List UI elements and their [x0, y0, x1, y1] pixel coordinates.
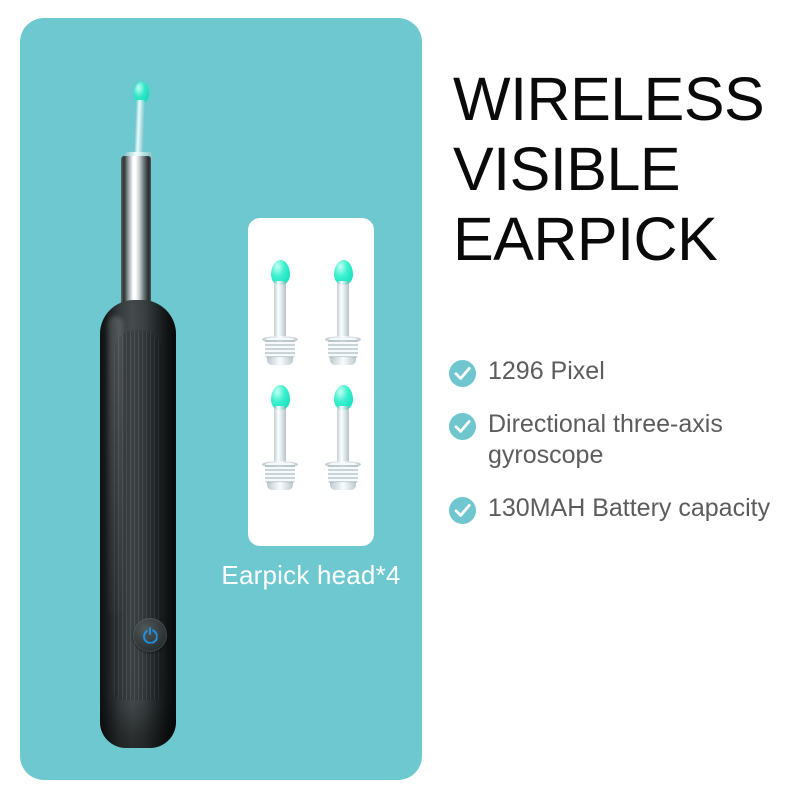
earpick-head-item — [260, 385, 300, 503]
earpick-device — [80, 68, 200, 768]
power-button[interactable] — [133, 618, 167, 652]
headline-line-2: VISIBLE — [453, 134, 783, 204]
page-title: WIRELESS VISIBLE EARPICK — [453, 64, 783, 274]
device-handle — [100, 300, 176, 748]
earpick-head-grid — [248, 260, 374, 510]
product-banner: Earpick head*4 WIRELESS VISIBLE EARPICK … — [0, 0, 800, 800]
feature-label: Directional three-axis gyroscope — [488, 409, 779, 471]
check-circle-icon — [449, 413, 476, 440]
check-circle-icon — [449, 360, 476, 387]
handle-highlight — [108, 316, 123, 616]
earpick-head-stem — [337, 406, 349, 468]
earpick-head-foot — [267, 482, 293, 490]
probe-shaft — [134, 100, 145, 160]
earpick-head-item — [323, 385, 363, 503]
check-circle-icon — [449, 497, 476, 524]
headline-line-1: WIRELESS — [453, 64, 783, 134]
product-image-panel: Earpick head*4 — [20, 18, 422, 780]
earpick-head-stem — [274, 281, 286, 343]
earpick-head-foot — [267, 357, 293, 365]
feature-item: 1296 Pixel — [449, 356, 779, 387]
accessory-caption: Earpick head*4 — [221, 560, 400, 590]
earpick-head-item — [323, 260, 363, 378]
feature-label: 130MAH Battery capacity — [488, 493, 770, 524]
earpick-head-stem — [274, 406, 286, 468]
earpick-head-item — [260, 260, 300, 378]
feature-item: Directional three-axis gyroscope — [449, 409, 779, 471]
feature-label: 1296 Pixel — [488, 356, 605, 387]
earpick-head-foot — [330, 357, 356, 365]
accessory-caption-wrapper: Earpick head*4 — [180, 560, 442, 591]
feature-list: 1296 Pixel Directional three-axis gyrosc… — [449, 356, 779, 546]
earpick-head-foot — [330, 482, 356, 490]
headline-line-3: EARPICK — [453, 204, 783, 274]
earpick-head-stem — [337, 281, 349, 343]
feature-item: 130MAH Battery capacity — [449, 493, 779, 524]
accessory-card — [248, 218, 374, 546]
power-icon — [143, 627, 158, 644]
